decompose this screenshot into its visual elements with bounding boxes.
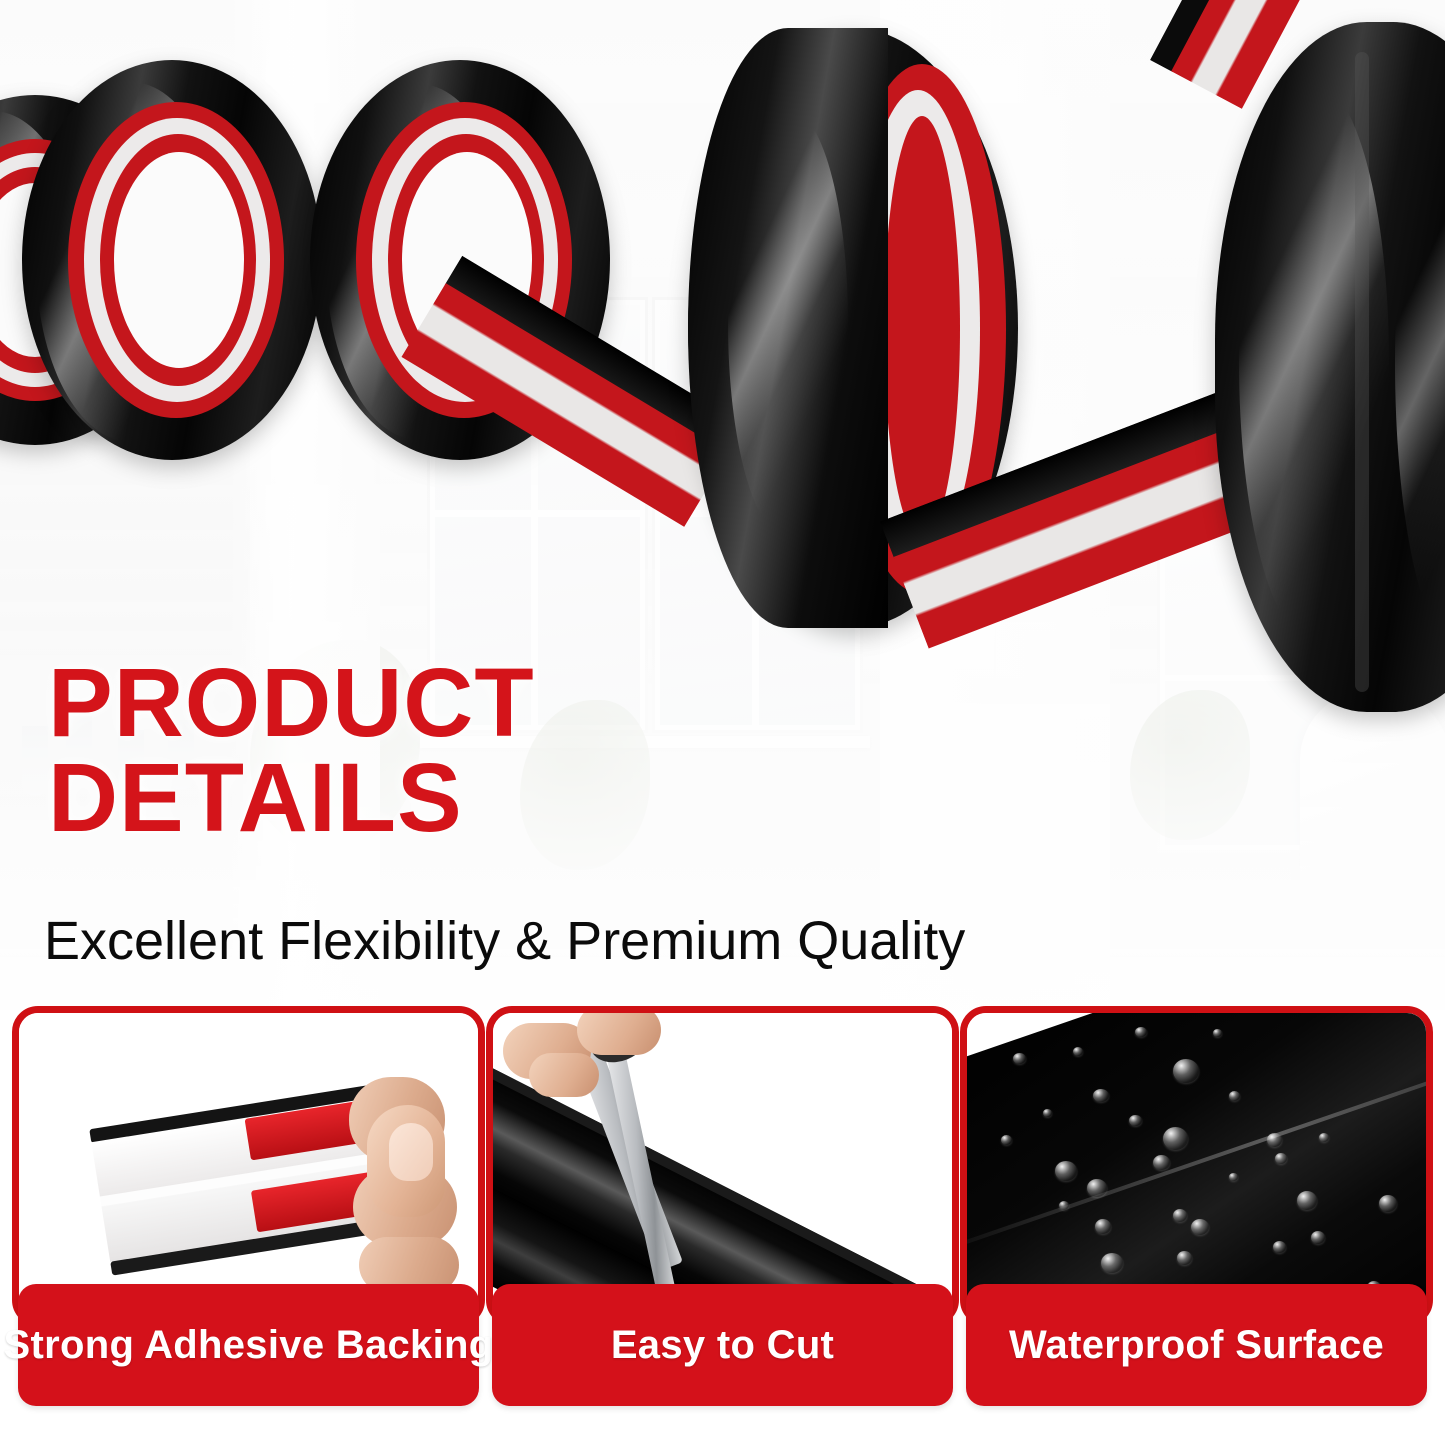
water-droplet bbox=[1297, 1191, 1317, 1210]
panel-caption-text: Strong Adhesive Backing bbox=[4, 1323, 494, 1368]
panel-caption-text: Easy to Cut bbox=[611, 1323, 834, 1368]
water-droplet bbox=[1093, 1089, 1109, 1102]
coil-adhesive-red bbox=[884, 116, 960, 540]
feature-panel-cut[interactable]: Easy to Cut bbox=[486, 1006, 959, 1416]
panel-caption-bar: Strong Adhesive Backing bbox=[18, 1284, 479, 1406]
water-droplet bbox=[1267, 1133, 1282, 1147]
water-droplet bbox=[1173, 1059, 1199, 1083]
finger bbox=[529, 1053, 599, 1097]
water-droplet bbox=[1213, 1029, 1222, 1037]
panel-caption-text: Waterproof Surface bbox=[1009, 1323, 1384, 1368]
water-droplet bbox=[1177, 1251, 1192, 1265]
hero-tape-coils bbox=[0, 0, 1445, 700]
feature-panel-waterproof[interactable]: Waterproof Surface bbox=[960, 1006, 1433, 1416]
water-droplet bbox=[1153, 1155, 1170, 1170]
water-droplet bbox=[1013, 1053, 1026, 1064]
product-detail-image: PRODUCT DETAILS Excellent Flexibility & … bbox=[0, 0, 1445, 1445]
feature-panel-adhesive[interactable]: Strong Adhesive Backing bbox=[12, 1006, 485, 1416]
panel-photo-adhesive bbox=[19, 1013, 478, 1319]
thumbnail bbox=[389, 1123, 433, 1181]
water-droplet bbox=[1319, 1133, 1329, 1142]
hand-holding-tape bbox=[349, 1071, 478, 1286]
water-droplet bbox=[1229, 1091, 1240, 1101]
water-droplet bbox=[1191, 1219, 1209, 1235]
water-droplet bbox=[1073, 1047, 1083, 1056]
tape-waterproof-surface bbox=[967, 1013, 1426, 1319]
tape-coil bbox=[22, 60, 322, 460]
headline-line-1: PRODUCT bbox=[48, 648, 535, 757]
water-droplet bbox=[1229, 1173, 1238, 1181]
water-droplet bbox=[1379, 1195, 1397, 1212]
water-droplet bbox=[1163, 1127, 1188, 1150]
water-droplet bbox=[1055, 1161, 1077, 1181]
panel-frame bbox=[486, 1006, 959, 1326]
water-droplet bbox=[1311, 1231, 1325, 1244]
panel-photo-cut bbox=[493, 1013, 952, 1319]
water-droplet bbox=[1101, 1253, 1123, 1273]
feature-panels: Strong Adhesive Backing bbox=[0, 1006, 1445, 1416]
hand-with-scissors bbox=[503, 1013, 688, 1100]
water-droplet bbox=[1275, 1153, 1287, 1164]
water-droplet bbox=[1095, 1219, 1111, 1234]
panel-caption-bar: Waterproof Surface bbox=[966, 1284, 1427, 1406]
panel-frame bbox=[12, 1006, 485, 1326]
coil-gloss-highlight bbox=[728, 108, 848, 538]
finger bbox=[577, 1013, 661, 1055]
water-droplet bbox=[1059, 1201, 1069, 1210]
panel-photo-waterproof bbox=[967, 1013, 1426, 1319]
water-droplet bbox=[1135, 1027, 1147, 1037]
water-droplet bbox=[1043, 1109, 1052, 1117]
panel-frame bbox=[960, 1006, 1433, 1326]
water-droplet bbox=[1129, 1115, 1142, 1126]
page-title: PRODUCT DETAILS bbox=[48, 655, 688, 845]
water-droplet bbox=[1087, 1179, 1107, 1197]
headline-line-2: DETAILS bbox=[48, 750, 688, 845]
water-droplet bbox=[1001, 1135, 1012, 1145]
coil-inner-hole bbox=[114, 152, 244, 368]
water-droplet bbox=[1273, 1241, 1286, 1253]
water-droplet bbox=[1173, 1209, 1187, 1222]
panel-caption-bar: Easy to Cut bbox=[492, 1284, 953, 1406]
page-subtitle: Excellent Flexibility & Premium Quality bbox=[44, 913, 1164, 970]
